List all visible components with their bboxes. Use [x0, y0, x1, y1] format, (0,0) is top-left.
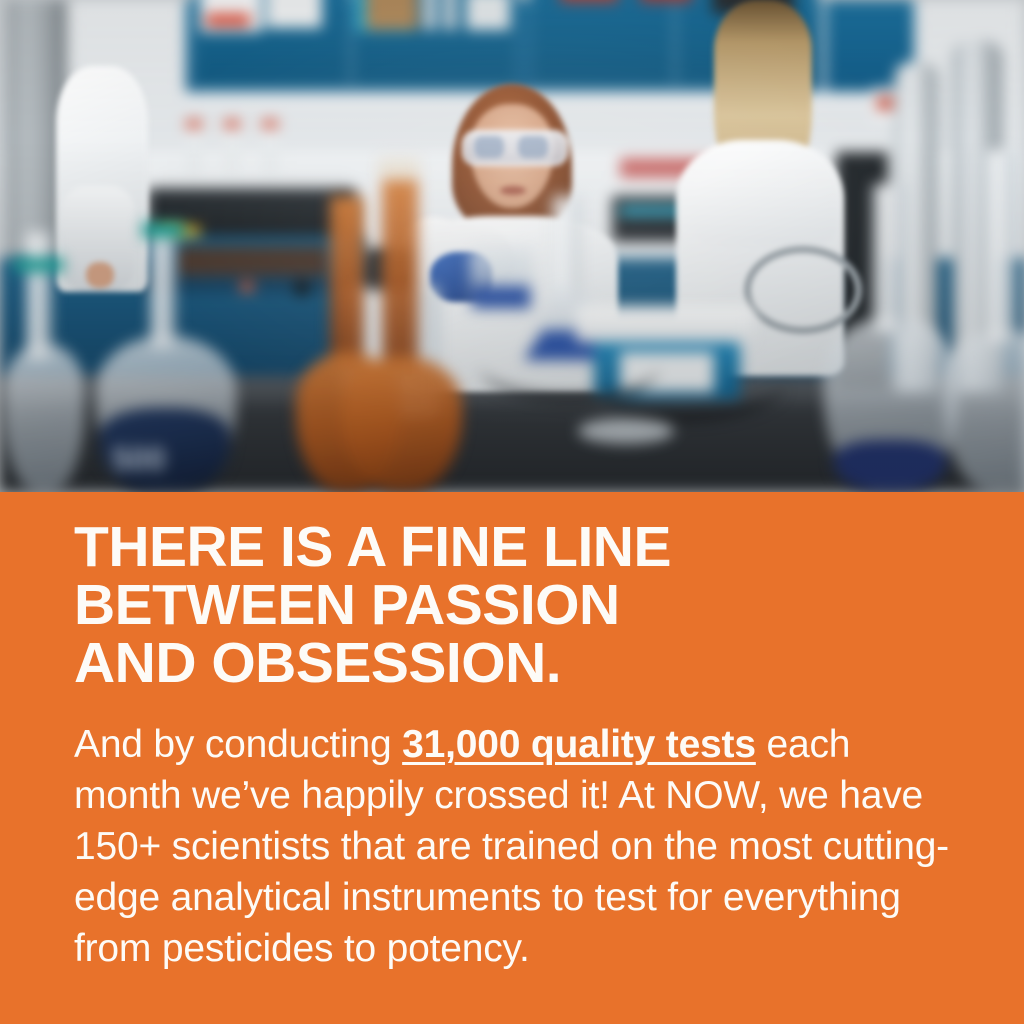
amber-flask-2-body [342, 356, 462, 492]
quality-tests-highlight: 31,000 quality tests [402, 723, 756, 766]
right-flask-2-neck [982, 150, 1018, 342]
photo-foreground-layer: 500 [0, 0, 1024, 492]
center-flask-neck [552, 196, 580, 304]
orange-message-panel: THERE IS A FINE LINE BETWEEN PASSION AND… [0, 492, 1024, 1024]
petri-dish [578, 418, 674, 444]
beaker-held-liquid [472, 286, 530, 308]
right-flask-1-liquid [834, 440, 946, 492]
bench-cable-2 [480, 330, 660, 402]
amber-flask-stopper [378, 158, 420, 180]
page-title: THERE IS A FINE LINE BETWEEN PASSION AND… [74, 518, 974, 692]
marketing-poster: 500 [0, 0, 1024, 1024]
body-text-before: And by conducting [74, 723, 402, 766]
amber-flask-1-neck [330, 196, 364, 368]
flask-500-cap [142, 222, 184, 238]
foreground-flask-left-bulb [4, 344, 84, 492]
lab-photo: 500 [0, 0, 1024, 492]
amber-flask-2-neck [382, 172, 418, 372]
foreground-flask-left-cap [14, 258, 64, 272]
flask-500-volume-label: 500 [112, 442, 188, 476]
right-flask-2 [944, 330, 1024, 492]
foreground-flask-left-neck [26, 232, 52, 360]
right-flask-1-neck [872, 184, 906, 332]
body-paragraph: And by conducting 31,000 quality tests e… [74, 719, 954, 974]
flask-500-neck [150, 222, 176, 348]
